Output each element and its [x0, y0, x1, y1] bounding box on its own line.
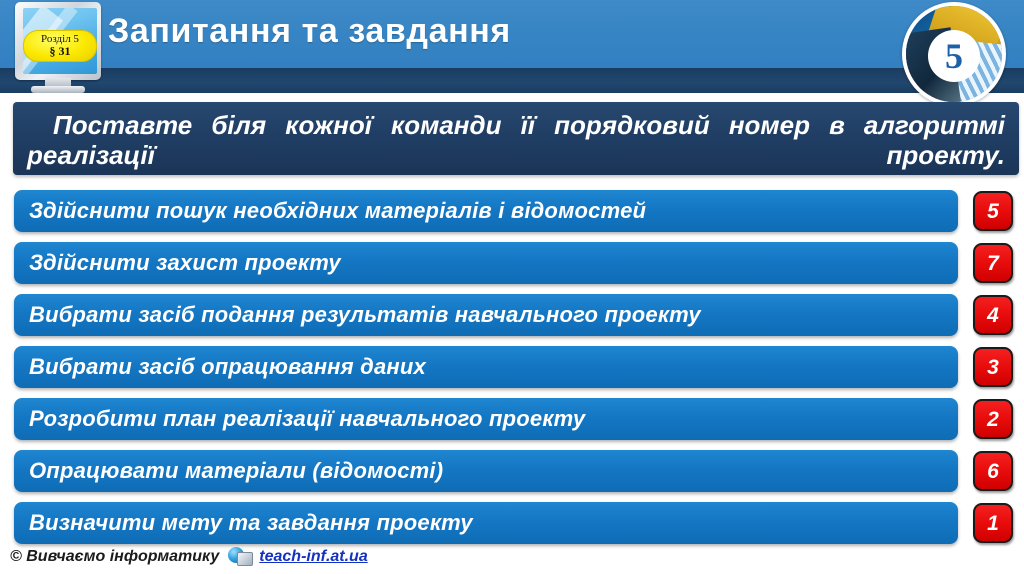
task-bar[interactable]: Опрацювати матеріали (відомості) — [14, 450, 958, 492]
monitor-icon: Розділ 5 § 31 — [13, 2, 105, 94]
task-bar[interactable]: Здійснити захист проекту — [14, 242, 958, 284]
task-label: Розробити план реалізації навчального пр… — [29, 406, 585, 432]
instruction-box: Поставте біля кожної команди її порядков… — [13, 102, 1019, 175]
globe-monitor-icon — [228, 547, 252, 567]
task-number: 6 — [987, 461, 999, 482]
emblem-number: 5 — [945, 38, 963, 74]
footer-website-link[interactable]: teach-inf.at.ua — [259, 548, 367, 566]
task-number-badge[interactable]: 6 — [973, 451, 1013, 491]
task-number: 2 — [987, 409, 999, 430]
footer-copyright: © Вивчаємо інформатику — [10, 548, 219, 566]
page-title: Запитання та завдання — [108, 12, 511, 51]
task-number: 5 — [987, 201, 999, 222]
task-label: Визначити мету та завдання проекту — [29, 510, 473, 536]
emblem-center-disc: 5 — [928, 30, 980, 82]
task-row[interactable]: Вибрати засіб опрацювання даних 3 — [0, 346, 1024, 388]
task-row[interactable]: Здійснити захист проекту 7 — [0, 242, 1024, 284]
task-number: 1 — [987, 513, 999, 534]
task-label: Опрацювати матеріали (відомості) — [29, 458, 443, 484]
section-number: § 31 — [50, 45, 71, 58]
chapter-emblem-icon: 5 — [902, 2, 1006, 106]
task-row[interactable]: Опрацювати матеріали (відомості) 6 — [0, 450, 1024, 492]
task-number-badge[interactable]: 5 — [973, 191, 1013, 231]
task-bar[interactable]: Вибрати засіб подання результатів навчал… — [14, 294, 958, 336]
task-bar[interactable]: Здійснити пошук необхідних матеріалів і … — [14, 190, 958, 232]
task-number: 4 — [987, 305, 999, 326]
task-label: Вибрати засіб подання результатів навчал… — [29, 302, 701, 328]
task-number-badge[interactable]: 2 — [973, 399, 1013, 439]
page-header: Розділ 5 § 31 Запитання та завдання 5 — [0, 0, 1024, 95]
task-number-badge[interactable]: 3 — [973, 347, 1013, 387]
task-label: Вибрати засіб опрацювання даних — [29, 354, 426, 380]
task-label: Здійснити захист проекту — [29, 250, 341, 276]
task-row[interactable]: Здійснити пошук необхідних матеріалів і … — [0, 190, 1024, 232]
task-bar[interactable]: Визначити мету та завдання проекту — [14, 502, 958, 544]
task-bar[interactable]: Розробити план реалізації навчального пр… — [14, 398, 958, 440]
task-number-badge[interactable]: 7 — [973, 243, 1013, 283]
task-list: Здійснити пошук необхідних матеріалів і … — [0, 190, 1024, 554]
task-row[interactable]: Розробити план реалізації навчального пр… — [0, 398, 1024, 440]
task-row[interactable]: Вибрати засіб подання результатів навчал… — [0, 294, 1024, 336]
task-number: 7 — [987, 253, 999, 274]
monitor-base — [31, 86, 85, 93]
monitor-small-icon — [237, 552, 253, 566]
task-label: Здійснити пошук необхідних матеріалів і … — [29, 198, 646, 224]
footer: © Вивчаємо інформатику teach-inf.at.ua — [10, 546, 368, 568]
header-divider — [0, 93, 1024, 95]
task-number-badge[interactable]: 1 — [973, 503, 1013, 543]
task-bar[interactable]: Вибрати засіб опрацювання даних — [14, 346, 958, 388]
chapter-label: Розділ 5 § 31 — [23, 30, 97, 62]
task-number-badge[interactable]: 4 — [973, 295, 1013, 335]
task-number: 3 — [987, 357, 999, 378]
task-row[interactable]: Визначити мету та завдання проекту 1 — [0, 502, 1024, 544]
header-band-bottom — [0, 68, 1024, 93]
